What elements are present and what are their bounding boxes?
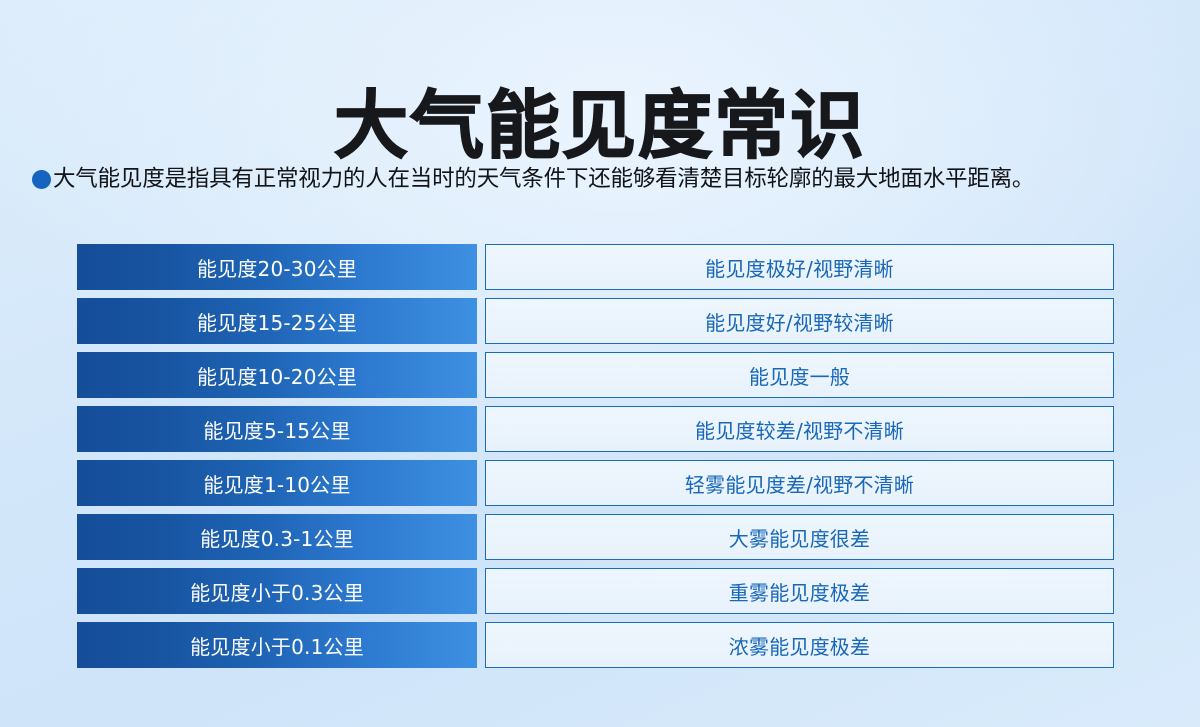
visibility-infographic: 大气能见度常识 大气能见度是指具有正常视力的人在当时的天气条件下还能够看清楚目标… [0,0,1200,727]
visibility-table: 能见度20-30公里能见度极好/视野清晰能见度15-25公里能见度好/视野较清晰… [77,244,1114,668]
visibility-description-cell: 能见度好/视野较清晰 [485,298,1114,344]
intro-statement: 大气能见度是指具有正常视力的人在当时的天气条件下还能够看清楚目标轮廓的最大地面水… [32,164,1182,194]
table-row: 能见度10-20公里能见度一般 [77,352,1114,398]
visibility-level-cell: 能见度20-30公里 [77,244,477,290]
table-row: 能见度0.3-1公里大雾能见度很差 [77,514,1114,560]
page-title: 大气能见度常识 [334,84,866,168]
visibility-level-cell: 能见度15-25公里 [77,298,477,344]
table-row: 能见度15-25公里能见度好/视野较清晰 [77,298,1114,344]
visibility-description-cell: 大雾能见度很差 [485,514,1114,560]
visibility-description-cell: 能见度一般 [485,352,1114,398]
visibility-description-cell: 能见度极好/视野清晰 [485,244,1114,290]
visibility-description-cell: 能见度较差/视野不清晰 [485,406,1114,452]
visibility-description-cell: 浓雾能见度极差 [485,622,1114,668]
visibility-level-cell: 能见度5-15公里 [77,406,477,452]
visibility-level-cell: 能见度1-10公里 [77,460,477,506]
visibility-description-cell: 轻雾能见度差/视野不清晰 [485,460,1114,506]
table-row: 能见度5-15公里能见度较差/视野不清晰 [77,406,1114,452]
table-row: 能见度小于0.3公里重雾能见度极差 [77,568,1114,614]
bullet-dot-icon [32,170,51,189]
visibility-level-cell: 能见度小于0.1公里 [77,622,477,668]
visibility-description-cell: 重雾能见度极差 [485,568,1114,614]
visibility-level-cell: 能见度小于0.3公里 [77,568,477,614]
table-row: 能见度1-10公里轻雾能见度差/视野不清晰 [77,460,1114,506]
visibility-level-cell: 能见度0.3-1公里 [77,514,477,560]
visibility-level-cell: 能见度10-20公里 [77,352,477,398]
table-row: 能见度20-30公里能见度极好/视野清晰 [77,244,1114,290]
table-row: 能见度小于0.1公里浓雾能见度极差 [77,622,1114,668]
intro-text: 大气能见度是指具有正常视力的人在当时的天气条件下还能够看清楚目标轮廓的最大地面水… [53,164,1034,194]
